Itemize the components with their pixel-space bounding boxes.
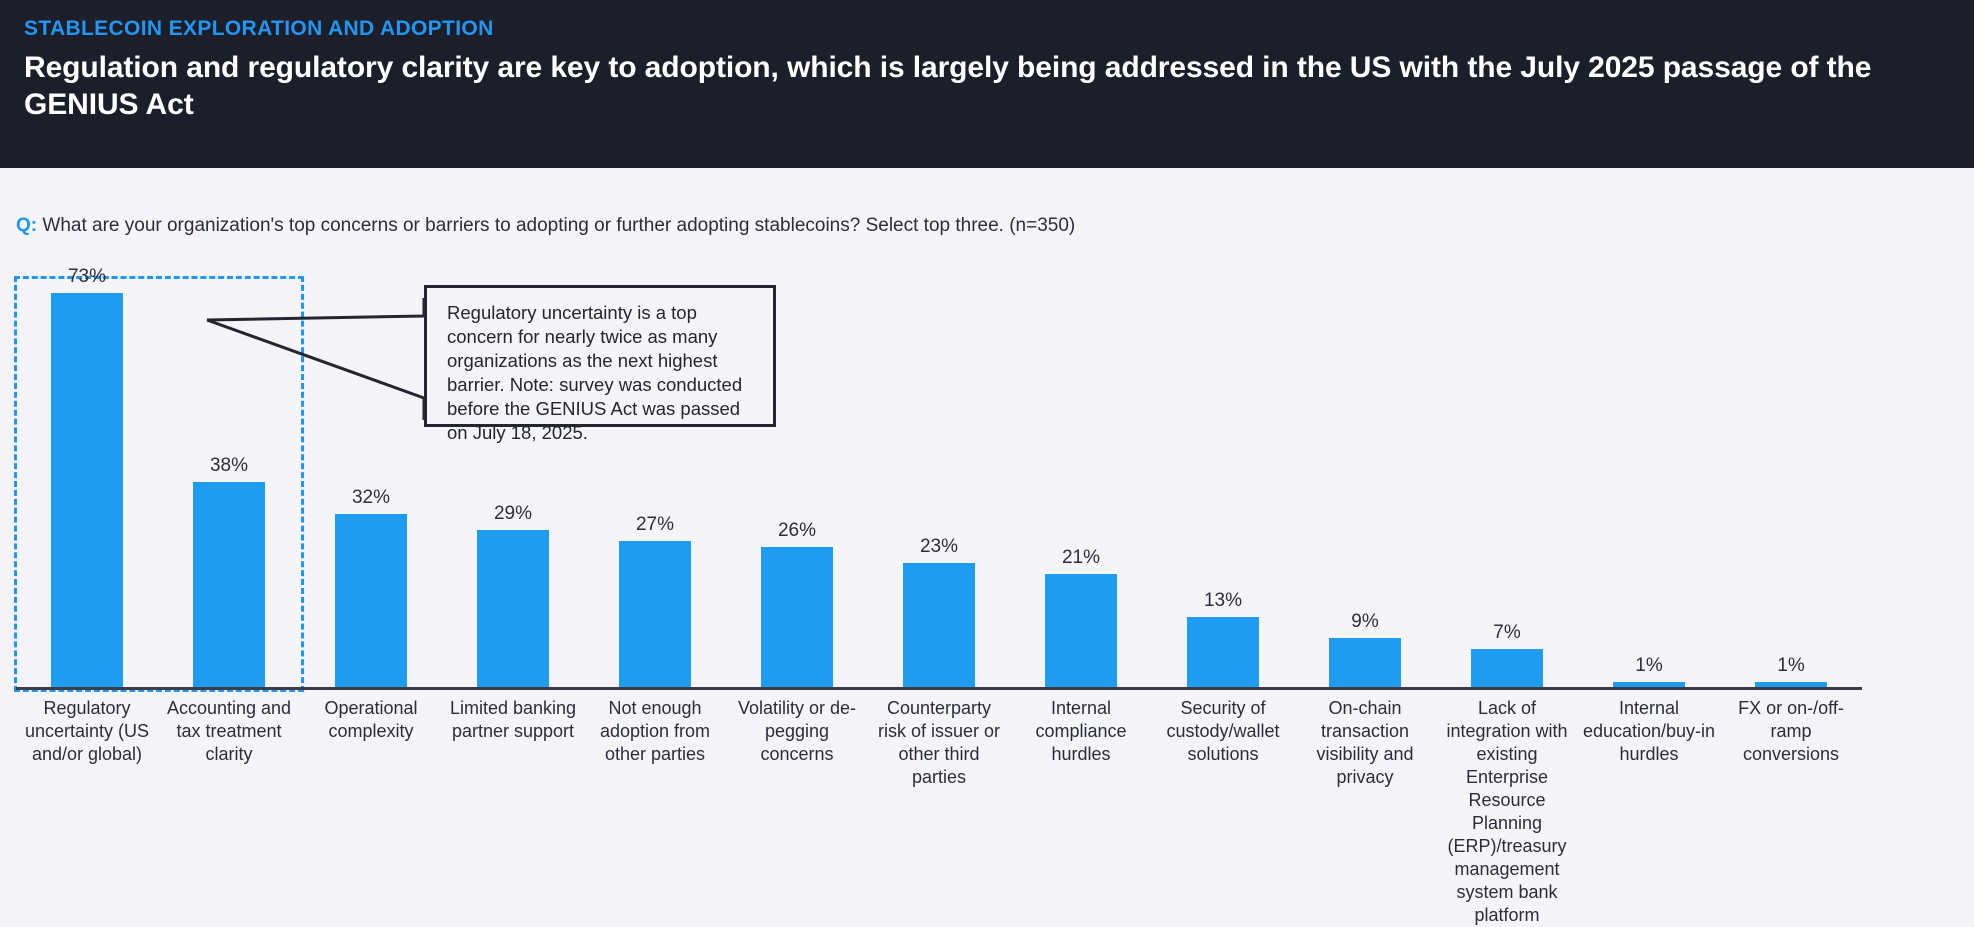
bar-value-label: 9% bbox=[1351, 612, 1378, 631]
bar-column[interactable]: 21% bbox=[1010, 255, 1152, 687]
bar-value-label: 29% bbox=[494, 504, 532, 523]
x-axis-label: Counterparty risk of issuer or other thi… bbox=[868, 697, 1010, 789]
bar[interactable] bbox=[1471, 649, 1543, 687]
bar-series: 73%38%32%29%27%26%23%21%13%9%7%1%1% bbox=[16, 255, 1862, 687]
bar-column[interactable]: 23% bbox=[868, 255, 1010, 687]
bar[interactable] bbox=[335, 514, 407, 687]
callout-text: Regulatory uncertainty is a top concern … bbox=[447, 301, 757, 445]
bar-value-label: 23% bbox=[920, 537, 958, 556]
x-axis-labels: Regulatory uncertainty (US and/or global… bbox=[16, 697, 1862, 927]
x-axis-label: Limited banking partner support bbox=[442, 697, 584, 743]
bar-column[interactable]: 13% bbox=[1152, 255, 1294, 687]
x-axis-label: Operational complexity bbox=[300, 697, 442, 743]
bar[interactable] bbox=[193, 482, 265, 687]
x-axis-label: On-chain transaction visibility and priv… bbox=[1294, 697, 1436, 789]
bar-value-label: 1% bbox=[1635, 656, 1662, 675]
bar[interactable] bbox=[1045, 574, 1117, 687]
bar[interactable] bbox=[1329, 638, 1401, 687]
bar[interactable] bbox=[477, 530, 549, 687]
bar-value-label: 38% bbox=[210, 456, 248, 475]
question-text: What are your organization's top concern… bbox=[42, 215, 1075, 236]
page-title: Regulation and regulatory clarity are ke… bbox=[24, 50, 1950, 123]
bar[interactable] bbox=[761, 547, 833, 687]
bar[interactable] bbox=[51, 293, 123, 687]
callout-box: Regulatory uncertainty is a top concern … bbox=[424, 285, 776, 427]
bar-column[interactable]: 32% bbox=[300, 255, 442, 687]
x-axis-label: Security of custody/wallet solutions bbox=[1152, 697, 1294, 766]
x-axis-label: Accounting and tax treatment clarity bbox=[158, 697, 300, 766]
slide-header: STABLECOIN EXPLORATION AND ADOPTION Regu… bbox=[0, 0, 1974, 168]
bar-value-label: 7% bbox=[1493, 623, 1520, 642]
x-axis-label: Volatility or de-pegging concerns bbox=[726, 697, 868, 766]
bar-column[interactable]: 1% bbox=[1578, 255, 1720, 687]
header-eyebrow: STABLECOIN EXPLORATION AND ADOPTION bbox=[24, 16, 1950, 41]
x-axis-line bbox=[16, 687, 1862, 690]
bar-column[interactable]: 38% bbox=[158, 255, 300, 687]
x-axis-label: Internal education/buy-in hurdles bbox=[1578, 697, 1720, 766]
bar-value-label: 13% bbox=[1204, 591, 1242, 610]
bar[interactable] bbox=[619, 541, 691, 687]
bar-column[interactable]: 1% bbox=[1720, 255, 1862, 687]
bar[interactable] bbox=[903, 563, 975, 687]
bar-value-label: 32% bbox=[352, 488, 390, 507]
bar-column[interactable]: 73% bbox=[16, 255, 158, 687]
question-prefix: Q: bbox=[16, 215, 37, 236]
survey-question: Q: What are your organization's top conc… bbox=[16, 215, 1075, 237]
bar-value-label: 1% bbox=[1777, 656, 1804, 675]
bar-column[interactable]: 9% bbox=[1294, 255, 1436, 687]
bar[interactable] bbox=[1187, 617, 1259, 687]
bar-value-label: 27% bbox=[636, 515, 674, 534]
bar-value-label: 73% bbox=[68, 267, 106, 286]
bar-value-label: 21% bbox=[1062, 548, 1100, 567]
x-axis-label: Lack of integration with existing Enterp… bbox=[1436, 697, 1578, 927]
bar-column[interactable]: 7% bbox=[1436, 255, 1578, 687]
x-axis-label: FX or on-/off-ramp conversions bbox=[1720, 697, 1862, 766]
x-axis-label: Regulatory uncertainty (US and/or global… bbox=[16, 697, 158, 766]
bar-value-label: 26% bbox=[778, 521, 816, 540]
x-axis-label: Not enough adoption from other parties bbox=[584, 697, 726, 766]
x-axis-label: Internal compliance hurdles bbox=[1010, 697, 1152, 766]
